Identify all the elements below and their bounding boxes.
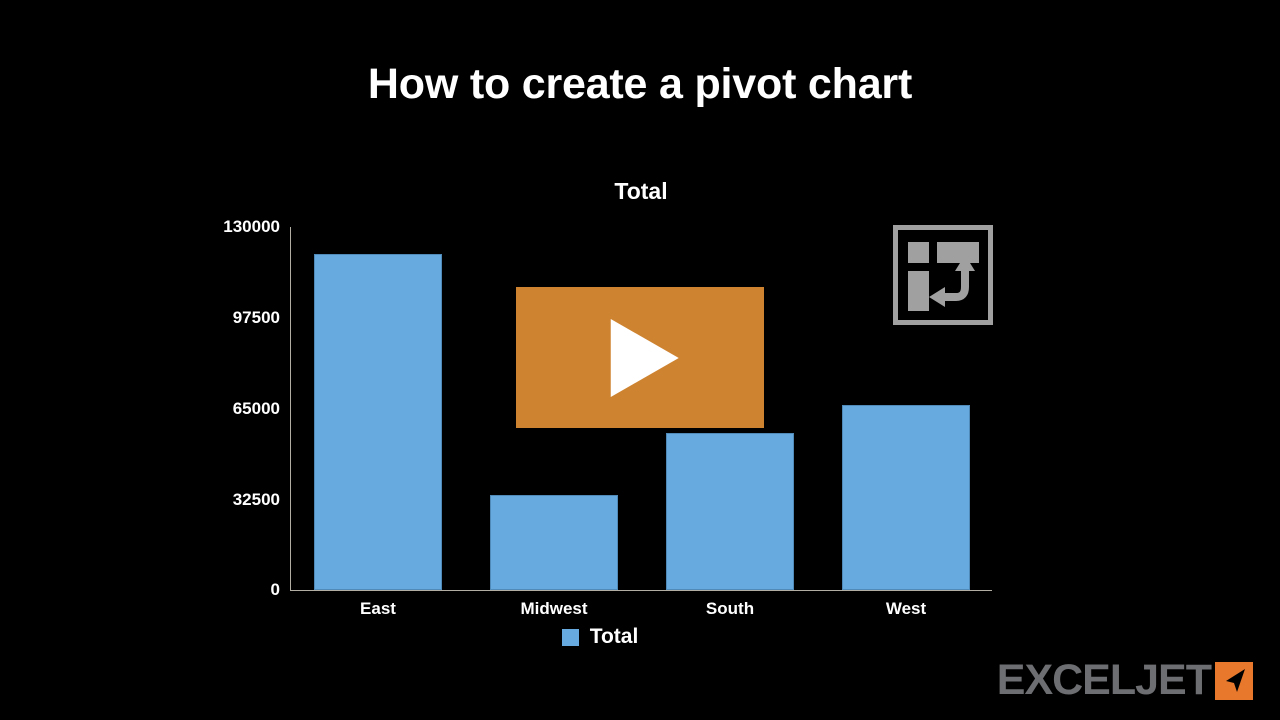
x-axis-line [290,590,992,591]
y-axis-tick-label: 32500 [160,490,280,510]
x-axis-label-south: South [642,599,818,619]
y-axis-tick-label: 130000 [160,217,280,237]
exceljet-logo: EXCELJET [997,659,1253,702]
y-axis-tick-label: 65000 [160,399,280,419]
page-title: How to create a pivot chart [0,60,1280,109]
pivot-table-icon [893,225,993,325]
chart-legend: Total [190,625,1010,649]
slide-canvas: How to create a pivot chart Total 130000… [0,0,1280,720]
play-triangle-icon [611,319,679,397]
bar-west[interactable] [842,405,970,590]
x-axis-label-east: East [290,599,466,619]
x-axis-label-west: West [818,599,994,619]
bar-midwest[interactable] [490,495,618,590]
legend-color-swatch [562,629,579,646]
y-axis-tick-label: 97500 [160,308,280,328]
bar-south[interactable] [666,433,794,590]
legend-label-total: Total [590,625,639,649]
y-axis-line [290,227,291,591]
y-axis-tick-label: 0 [160,580,280,600]
chart-title: Total [290,178,992,205]
cursor-arrow-icon [1215,662,1253,700]
logo-wordmark: EXCELJET [997,659,1211,702]
video-play-overlay[interactable] [516,287,764,428]
x-axis-label-midwest: Midwest [466,599,642,619]
bar-east[interactable] [314,254,442,590]
